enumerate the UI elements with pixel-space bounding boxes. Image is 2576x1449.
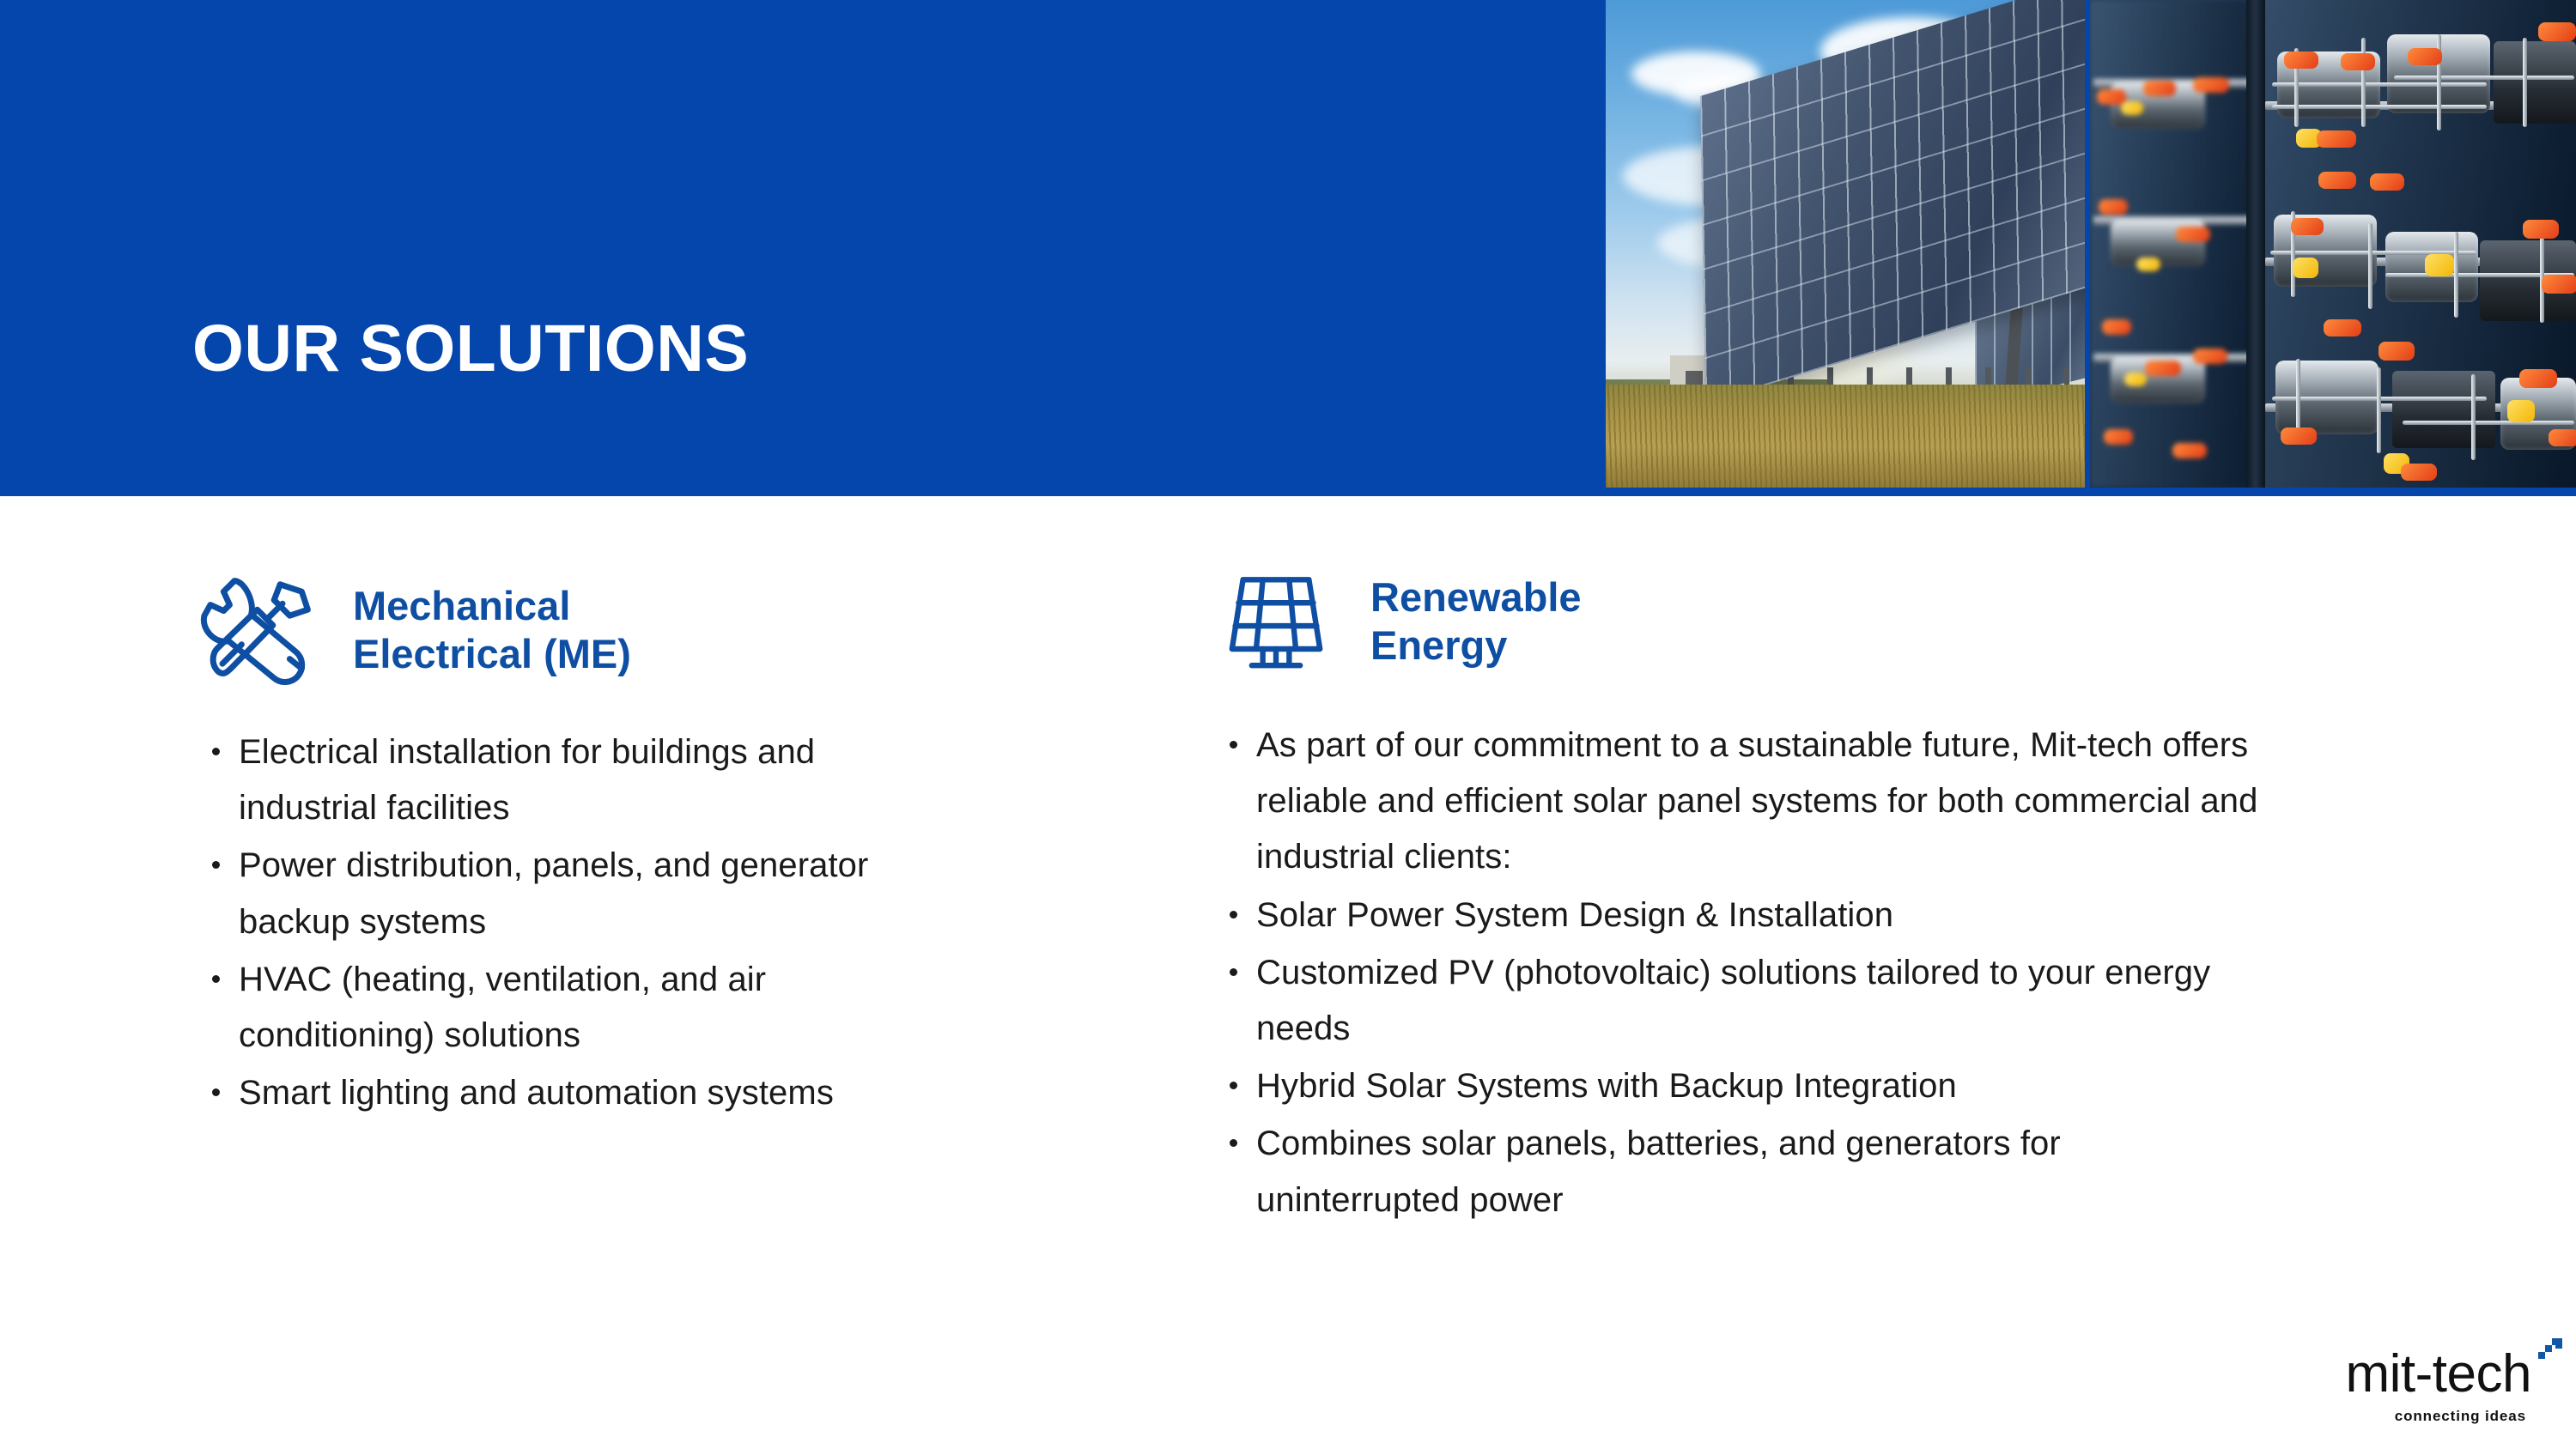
list-item: Power distribution, panels, and generato… [193, 838, 891, 949]
list-item: Solar Power System Design & Installation [1211, 888, 2269, 943]
card-title-line1: Renewable [1370, 574, 1582, 620]
page-title: OUR SOLUTIONS [192, 316, 749, 382]
grass-field [1606, 385, 2085, 488]
list-item: Smart lighting and automation systems [193, 1065, 891, 1121]
solutions-content: Mechanical Electrical (ME) Electrical in… [0, 496, 2576, 1449]
rack-post [2246, 0, 2265, 488]
card-title-line2: Electrical (ME) [353, 631, 631, 676]
solution-card-renewable-energy: Renewable Energy As part of our commitme… [1211, 496, 2413, 1230]
wrench-screwdriver-icon [193, 565, 324, 695]
card-title-line1: Mechanical [353, 583, 570, 628]
logo-tagline: connecting ideas [2282, 1408, 2526, 1425]
solar-panel-icon [1211, 556, 1341, 687]
list-item: Hybrid Solar Systems with Backup Integra… [1211, 1058, 2269, 1114]
list-item: Customized PV (photovoltaic) solutions t… [1211, 945, 2269, 1057]
card-title: Mechanical Electrical (ME) [353, 582, 631, 679]
card-header: Mechanical Electrical (ME) [193, 496, 1198, 695]
mit-tech-logo: mit-tech connecting ideas [2282, 1348, 2531, 1425]
card-header: Renewable Energy [1211, 496, 2413, 687]
bullet-list-mechanical-electrical: Electrical installation for buildings an… [193, 724, 1198, 1121]
list-item: Electrical installation for buildings an… [193, 724, 891, 836]
list-item: HVAC (heating, ventilation, and air cond… [193, 952, 891, 1064]
card-title-line2: Energy [1370, 622, 1507, 668]
solution-card-mechanical-electrical: Mechanical Electrical (ME) Electrical in… [193, 496, 1198, 1123]
card-title: Renewable Energy [1370, 573, 1582, 670]
electrical-equipment-photo [2090, 0, 2576, 488]
logo-wordmark: mit-tech [2346, 1348, 2531, 1401]
equipment-rack-blurred [2090, 0, 2253, 488]
header-photo-strip [1606, 0, 2576, 488]
bullet-list-renewable-energy: As part of our commitment to a sustainab… [1211, 718, 2413, 1228]
solar-farm-photo [1606, 0, 2085, 488]
arrow-chevron-icon [2526, 1329, 2564, 1367]
equipment-rack-sharp [2265, 0, 2576, 488]
list-item: As part of our commitment to a sustainab… [1211, 718, 2269, 886]
list-item: Combines solar panels, batteries, and ge… [1211, 1116, 2269, 1228]
